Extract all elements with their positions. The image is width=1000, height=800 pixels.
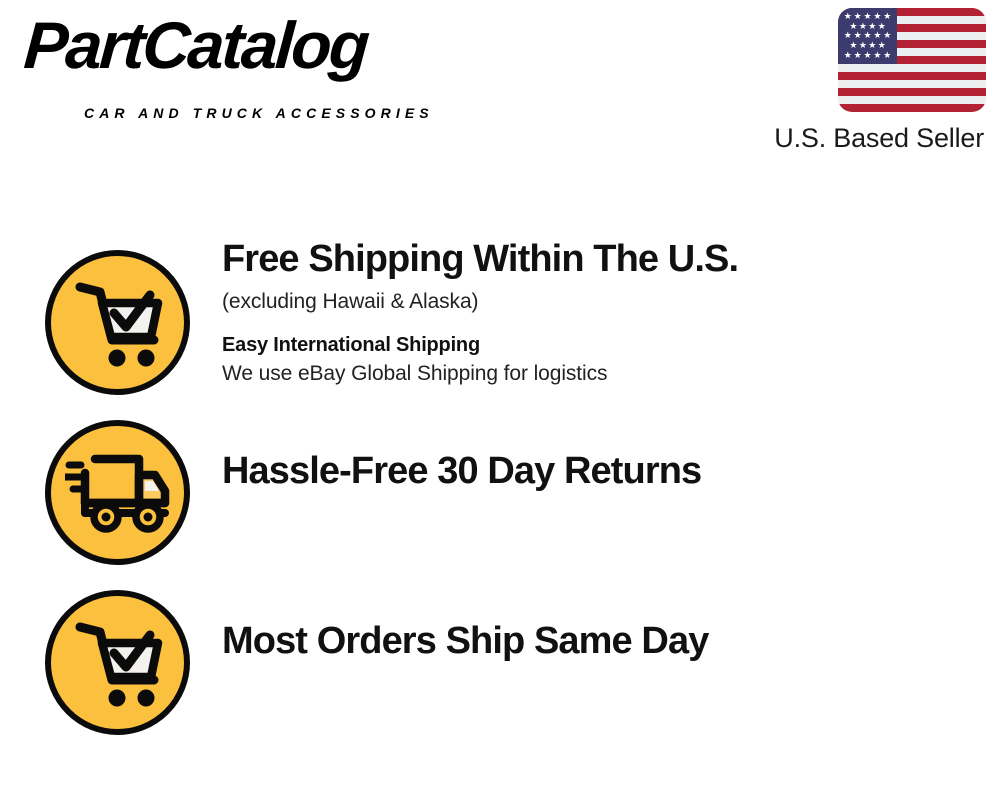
shopping-cart-check-icon (45, 590, 190, 735)
feature-text: Most Orders Ship Same Day (222, 572, 1000, 663)
seller-label: U.S. Based Seller (706, 123, 984, 154)
brand-wordmark: PartCatalog (22, 12, 370, 78)
shopping-cart-check-icon (45, 250, 190, 395)
feature-subtitle-detail: We use eBay Global Shipping for logistic… (222, 360, 1000, 388)
feature-row: Most Orders Ship Same Day (0, 572, 1000, 747)
feature-subtitle: (excluding Hawaii & Alaska) (222, 288, 1000, 316)
us-flag-icon: ★★★★★ ★★★★ ★★★★★ ★★★★ ★★★★★ (838, 8, 986, 112)
seller-badge: ★★★★★ ★★★★ ★★★★★ ★★★★ ★★★★★ U.S. Based S… (706, 8, 986, 154)
feature-title: Most Orders Ship Same Day (222, 620, 1000, 663)
page-header: PartCatalog CAR AND TRUCK ACCESSORIES (0, 0, 1000, 170)
feature-list: Free Shipping Within The U.S. (excluding… (0, 230, 1000, 747)
delivery-truck-icon (45, 420, 190, 565)
feature-text: Hassle-Free 30 Day Returns (222, 402, 1000, 493)
feature-row: Free Shipping Within The U.S. (excluding… (0, 230, 1000, 402)
flag-canton: ★★★★★ ★★★★ ★★★★★ ★★★★ ★★★★★ (838, 8, 897, 64)
feature-title: Free Shipping Within The U.S. (222, 238, 1000, 281)
feature-row: Hassle-Free 30 Day Returns (0, 402, 1000, 572)
feature-title: Hassle-Free 30 Day Returns (222, 450, 1000, 493)
flag-stars: ★★★★★ ★★★★ ★★★★★ ★★★★ ★★★★★ (838, 8, 897, 64)
feature-subtitle-strong: Easy International Shipping (222, 332, 1000, 358)
feature-text: Free Shipping Within The U.S. (excluding… (222, 230, 1000, 388)
brand-logo[interactable]: PartCatalog CAR AND TRUCK ACCESSORIES (22, 18, 492, 118)
brand-tagline: CAR AND TRUCK ACCESSORIES (84, 106, 434, 120)
